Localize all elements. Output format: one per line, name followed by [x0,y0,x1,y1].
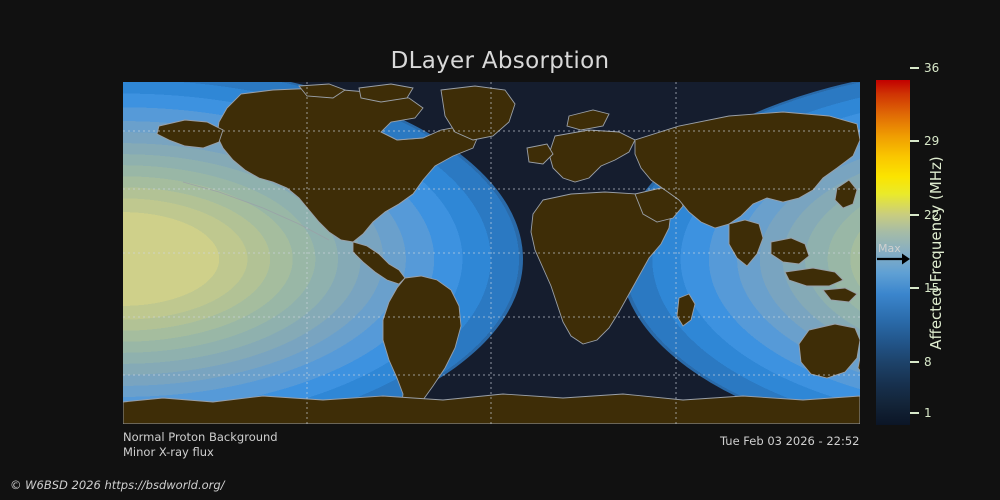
copyright-label: © W6BSD 2026 https://bsdworld.org/ [10,478,225,492]
world-map[interactable] [123,82,860,424]
tick-dash [910,361,919,363]
dlayer-absorption-page: DLayer Absorption [0,0,1000,500]
colorbar-axis-title: Affected Frequency (MHz) [925,80,947,425]
colorbar-axis-title-text: Affected Frequency (MHz) [927,156,945,350]
proton-status-text: Normal Proton Background [123,430,278,444]
tick-dash [910,140,919,142]
colorbar[interactable]: Max 36 29 22 15 8 [876,80,910,425]
tick-dash [910,67,919,69]
map-vector-layer [123,82,860,424]
timestamp-label: Tue Feb 03 2026 - 22:52 [720,434,859,448]
max-right-arrow-icon [876,252,910,266]
page-title: DLayer Absorption [0,48,1000,74]
tick-dash [910,214,919,216]
tick-dash [910,287,919,289]
colorbar-tick-36: 36 [910,62,939,74]
xray-status-text: Minor X-ray flux [123,445,214,459]
tick-dash [910,412,919,414]
